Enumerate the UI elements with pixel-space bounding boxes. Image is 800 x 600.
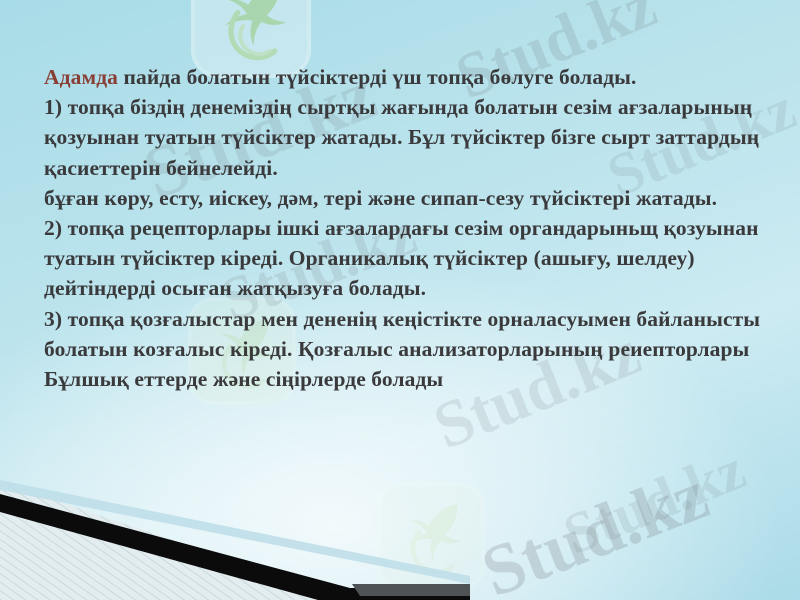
paragraph-1: Адамда пайда болатын түйсіктерді үш топқ…	[44, 62, 768, 92]
paragraph-3: бұған көру, есту, иіскеу, дәм, тері және…	[44, 183, 768, 213]
stud-kz-leaf-logo-icon	[372, 478, 490, 596]
corner-decoration	[0, 480, 470, 600]
lead-word: Адамда	[44, 65, 118, 89]
paragraph-4: 2) топқа рецепторлары ішкі ағзалардағы с…	[44, 213, 768, 304]
watermark-text: Stud.kz	[554, 435, 754, 568]
paragraph-2: 1) топқа біздің денеміздің сыртқы жағынд…	[44, 92, 768, 183]
watermark-text: Stud.kz	[471, 453, 719, 600]
paragraph-1-text: пайда болатын түйсіктерді үш топқа бөлуг…	[118, 65, 637, 89]
paragraph-5: 3) топқа қозғалыстар мен дененің кеңісті…	[44, 304, 768, 395]
slide-text-body: Адамда пайда болатын түйсіктерді үш топқ…	[44, 62, 768, 394]
slide-canvas: Stud.kz Stud.kz Stud.kz Stud.kz Stud.kz …	[0, 0, 800, 600]
